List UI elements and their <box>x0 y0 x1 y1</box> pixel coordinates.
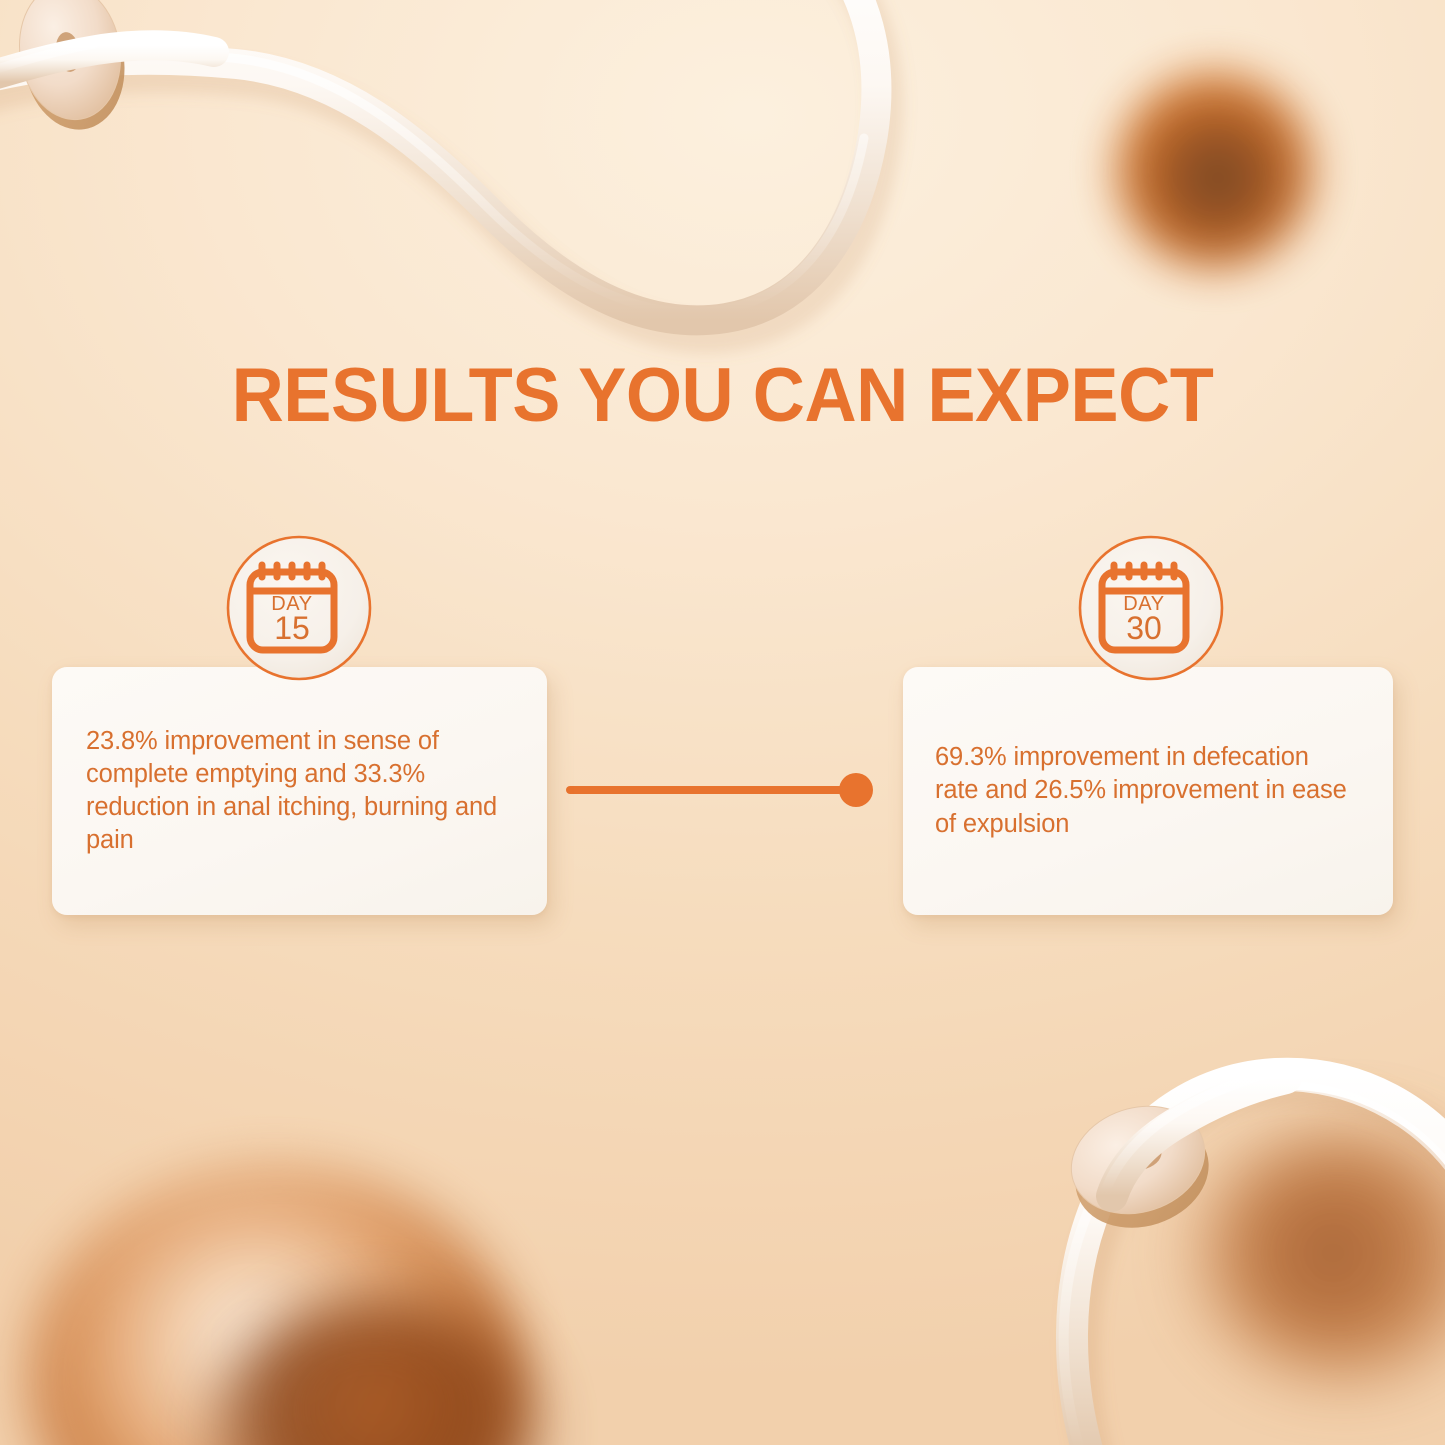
noodle-tube-top-left <box>0 0 886 336</box>
blurred-sphere-bottom-left <box>30 1168 520 1445</box>
blurred-sphere-bottom-left-core <box>210 1300 540 1445</box>
timeline-connector-line <box>566 786 858 794</box>
badge-day-number: 15 <box>274 610 310 646</box>
milestone-card-text: 23.8% improvement in sense of complete e… <box>86 725 503 858</box>
blurred-sphere-bottom-right <box>1198 1128 1445 1378</box>
milestone-card-day-15[interactable]: 23.8% improvement in sense of complete e… <box>52 667 547 915</box>
milestone-card-day-30[interactable]: 69.3% improvement in defecation rate and… <box>903 667 1393 915</box>
milestone-badge-day-30[interactable]: DAY 30 <box>1077 534 1225 682</box>
page-title: RESULTS YOU CAN EXPECT <box>36 352 1409 439</box>
milestone-badge-day-15[interactable]: DAY 15 <box>225 534 373 682</box>
milestone-card-text: 69.3% improvement in defecation rate and… <box>935 741 1353 840</box>
blurred-sphere-top-right <box>1116 72 1312 268</box>
poster-canvas: RESULTS YOU CAN EXPECT 23.8% improvement… <box>0 0 1445 1445</box>
timeline-connector-dot <box>839 773 873 807</box>
noodle-tube-bottom-right <box>1057 1070 1445 1445</box>
badge-day-number: 30 <box>1126 610 1162 646</box>
